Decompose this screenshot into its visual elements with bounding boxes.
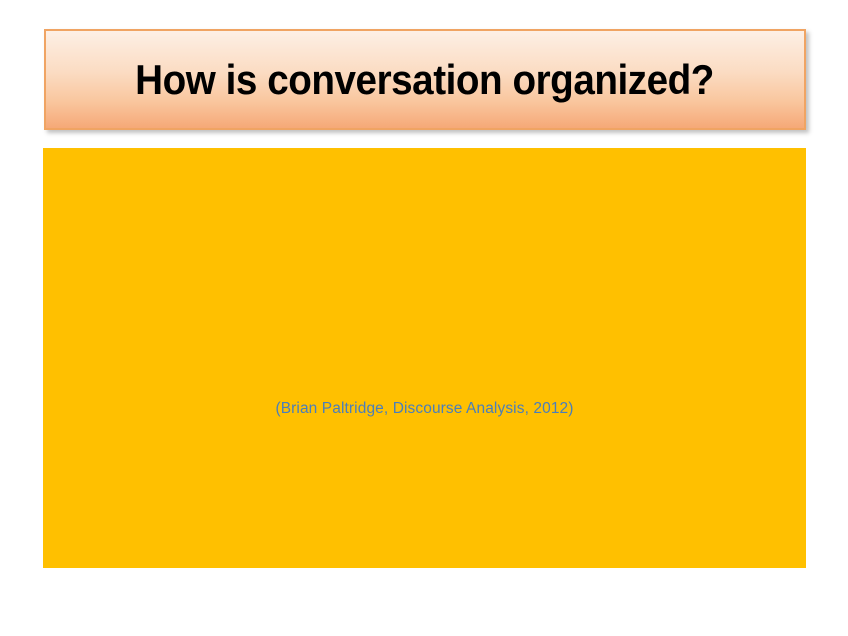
slide-content-panel: (Brian Paltridge, Discourse Analysis, 20… (43, 148, 806, 568)
source-citation: (Brian Paltridge, Discourse Analysis, 20… (43, 400, 806, 418)
presentation-slide: How is conversation organized? (Brian Pa… (0, 0, 848, 636)
slide-title-banner: How is conversation organized? (44, 29, 806, 130)
slide-title: How is conversation organized? (136, 59, 715, 101)
